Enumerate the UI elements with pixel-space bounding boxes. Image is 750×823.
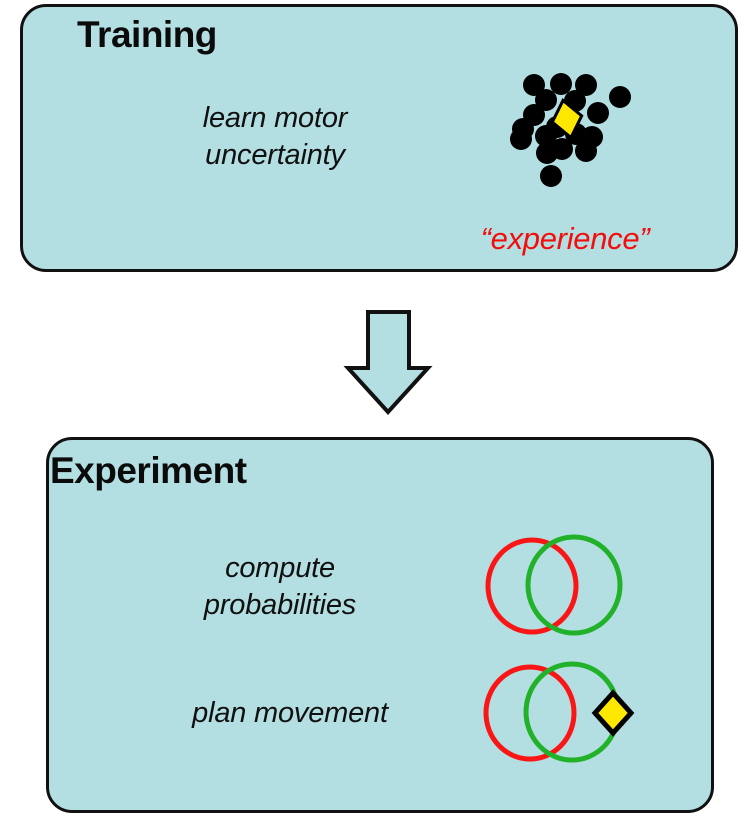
- experience-caption: “experience”: [440, 221, 690, 257]
- experiment-panel: [46, 437, 714, 813]
- flow-arrow-down-icon: [348, 312, 428, 412]
- learn-motor-uncertainty-label: learn motor uncertainty: [135, 100, 415, 174]
- compute-probabilities-label: compute probabilities: [140, 550, 420, 624]
- experiment-heading: Experiment: [50, 450, 247, 492]
- diagram-root: Training learn motor uncertainty “experi…: [0, 0, 750, 823]
- training-heading: Training: [77, 14, 217, 56]
- plan-movement-label: plan movement: [140, 695, 440, 732]
- flow-arrow-down-group: [348, 312, 428, 412]
